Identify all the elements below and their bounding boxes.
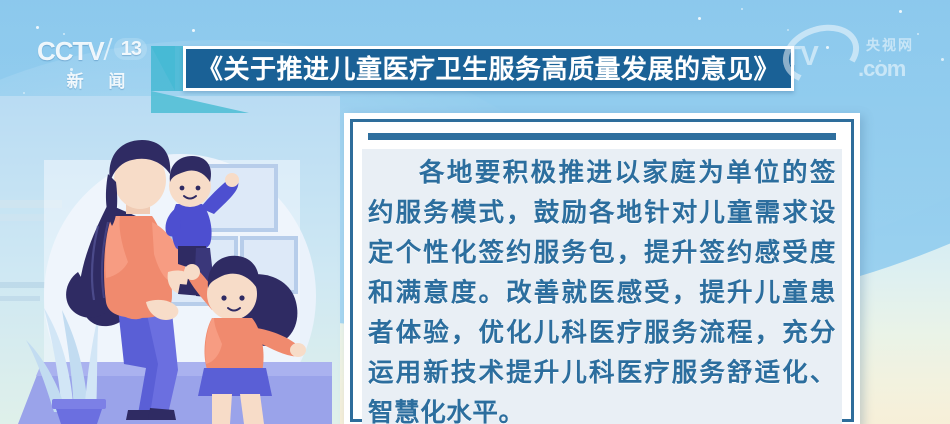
family-illustration-svg — [0, 96, 340, 424]
cctv-wordmark: CCTV13 — [37, 38, 157, 64]
watermark-domain: .com — [858, 56, 905, 82]
headline-banner: 《关于推进儿童医疗卫生服务高质量发展的意见》 — [183, 46, 794, 91]
family-illustration — [0, 96, 340, 424]
decor-triangle-lower — [151, 91, 249, 113]
watermark-brand: TV — [784, 40, 818, 72]
headline-title: 《关于推进儿童医疗卫生服务高质量发展的意见》 — [197, 56, 780, 82]
broadcast-frame: 《关于推进儿童医疗卫生服务高质量发展的意见》 CCTV13 新 闻 TV 央视网… — [0, 0, 950, 424]
channel-number: 13 — [114, 38, 147, 60]
quote-card: 各地要积极推进以家庭为单位的签约服务模式，鼓励各地针对儿童需求设定个性化签约服务… — [344, 113, 860, 424]
sparkle-dot — [741, 8, 743, 10]
cctv-logo-text: CCTV — [37, 36, 104, 66]
sparkle-dot — [36, 26, 39, 29]
logo-slash-icon — [103, 38, 112, 60]
quote-body-text: 各地要积极推进以家庭为单位的签约服务模式，鼓励各地针对儿童需求设定个性化签约服务… — [368, 153, 836, 424]
watermark-site-name: 央视网 — [866, 35, 914, 55]
sparkle-dot — [23, 92, 25, 94]
quote-card-inner: 各地要积极推进以家庭为单位的签约服务模式，鼓励各地针对儿童需求设定个性化签约服务… — [350, 119, 854, 422]
card-top-rule — [368, 133, 836, 140]
cctv-logo: CCTV13 新 闻 — [37, 38, 157, 94]
sparkle-dot — [63, 33, 65, 35]
cctv-com-watermark: TV 央视网 .com — [766, 26, 942, 88]
sparkle-dot — [698, 17, 701, 20]
channel-name: 新 闻 — [37, 67, 157, 92]
sparkle-dot — [192, 29, 195, 32]
quote-body-panel: 各地要积极推进以家庭为单位的签约服务模式，鼓励各地针对儿童需求设定个性化签约服务… — [362, 149, 842, 424]
sparkle-dot — [899, 10, 902, 13]
